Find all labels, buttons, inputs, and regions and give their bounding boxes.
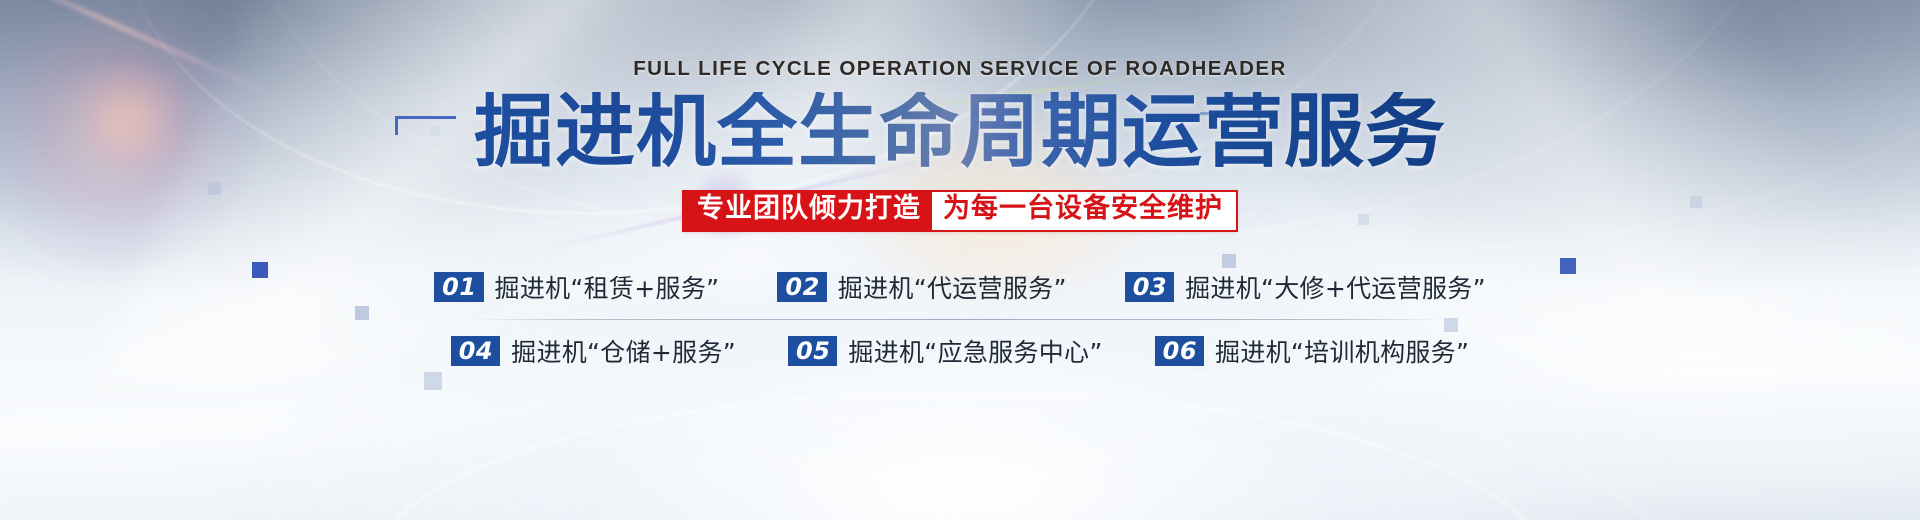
- promo-banner: FULL LIFE CYCLE OPERATION SERVICE OF ROA…: [0, 0, 1920, 520]
- service-number-badge: 04: [451, 336, 500, 366]
- banner-content: FULL LIFE CYCLE OPERATION SERVICE OF ROA…: [0, 0, 1920, 520]
- service-item-01[interactable]: 01 掘进机“租赁+服务”: [434, 269, 719, 305]
- service-number-badge: 02: [777, 272, 826, 302]
- service-list: 01 掘进机“租赁+服务” 02 掘进机“代运营服务” 03 掘进机“大修+代运…: [434, 262, 1486, 376]
- service-item-02[interactable]: 02 掘进机“代运营服务”: [777, 269, 1066, 305]
- service-label: 掘进机“应急服务中心”: [848, 333, 1102, 369]
- service-number-badge: 05: [788, 336, 837, 366]
- slogan-secondary: 为每一台设备安全维护: [932, 192, 1236, 230]
- slogan-primary: 专业团队倾力打造: [684, 192, 932, 230]
- banner-eyebrow-english: FULL LIFE CYCLE OPERATION SERVICE OF ROA…: [633, 57, 1287, 81]
- banner-headline: 掘进机全生命周期运营服务: [474, 92, 1446, 172]
- service-row-bottom: 04 掘进机“仓储+服务” 05 掘进机“应急服务中心” 06 掘进机“培训机构…: [451, 326, 1470, 376]
- service-label: 掘进机“大修+代运营服务”: [1185, 269, 1486, 305]
- slogan-banner: 专业团队倾力打造 为每一台设备安全维护: [682, 190, 1238, 232]
- service-item-06[interactable]: 06 掘进机“培训机构服务”: [1155, 333, 1470, 369]
- service-number-badge: 01: [434, 272, 483, 302]
- service-label: 掘进机“培训机构服务”: [1215, 333, 1469, 369]
- service-row-top: 01 掘进机“租赁+服务” 02 掘进机“代运营服务” 03 掘进机“大修+代运…: [434, 262, 1486, 312]
- service-number-badge: 03: [1125, 272, 1174, 302]
- service-number-badge: 06: [1155, 336, 1204, 366]
- service-item-03[interactable]: 03 掘进机“大修+代运营服务”: [1125, 269, 1486, 305]
- service-divider: [470, 319, 1450, 320]
- service-label: 掘进机“租赁+服务”: [495, 269, 720, 305]
- service-label: 掘进机“仓储+服务”: [511, 333, 736, 369]
- service-item-04[interactable]: 04 掘进机“仓储+服务”: [451, 333, 736, 369]
- service-label: 掘进机“代运营服务”: [838, 269, 1067, 305]
- service-item-05[interactable]: 05 掘进机“应急服务中心”: [788, 333, 1103, 369]
